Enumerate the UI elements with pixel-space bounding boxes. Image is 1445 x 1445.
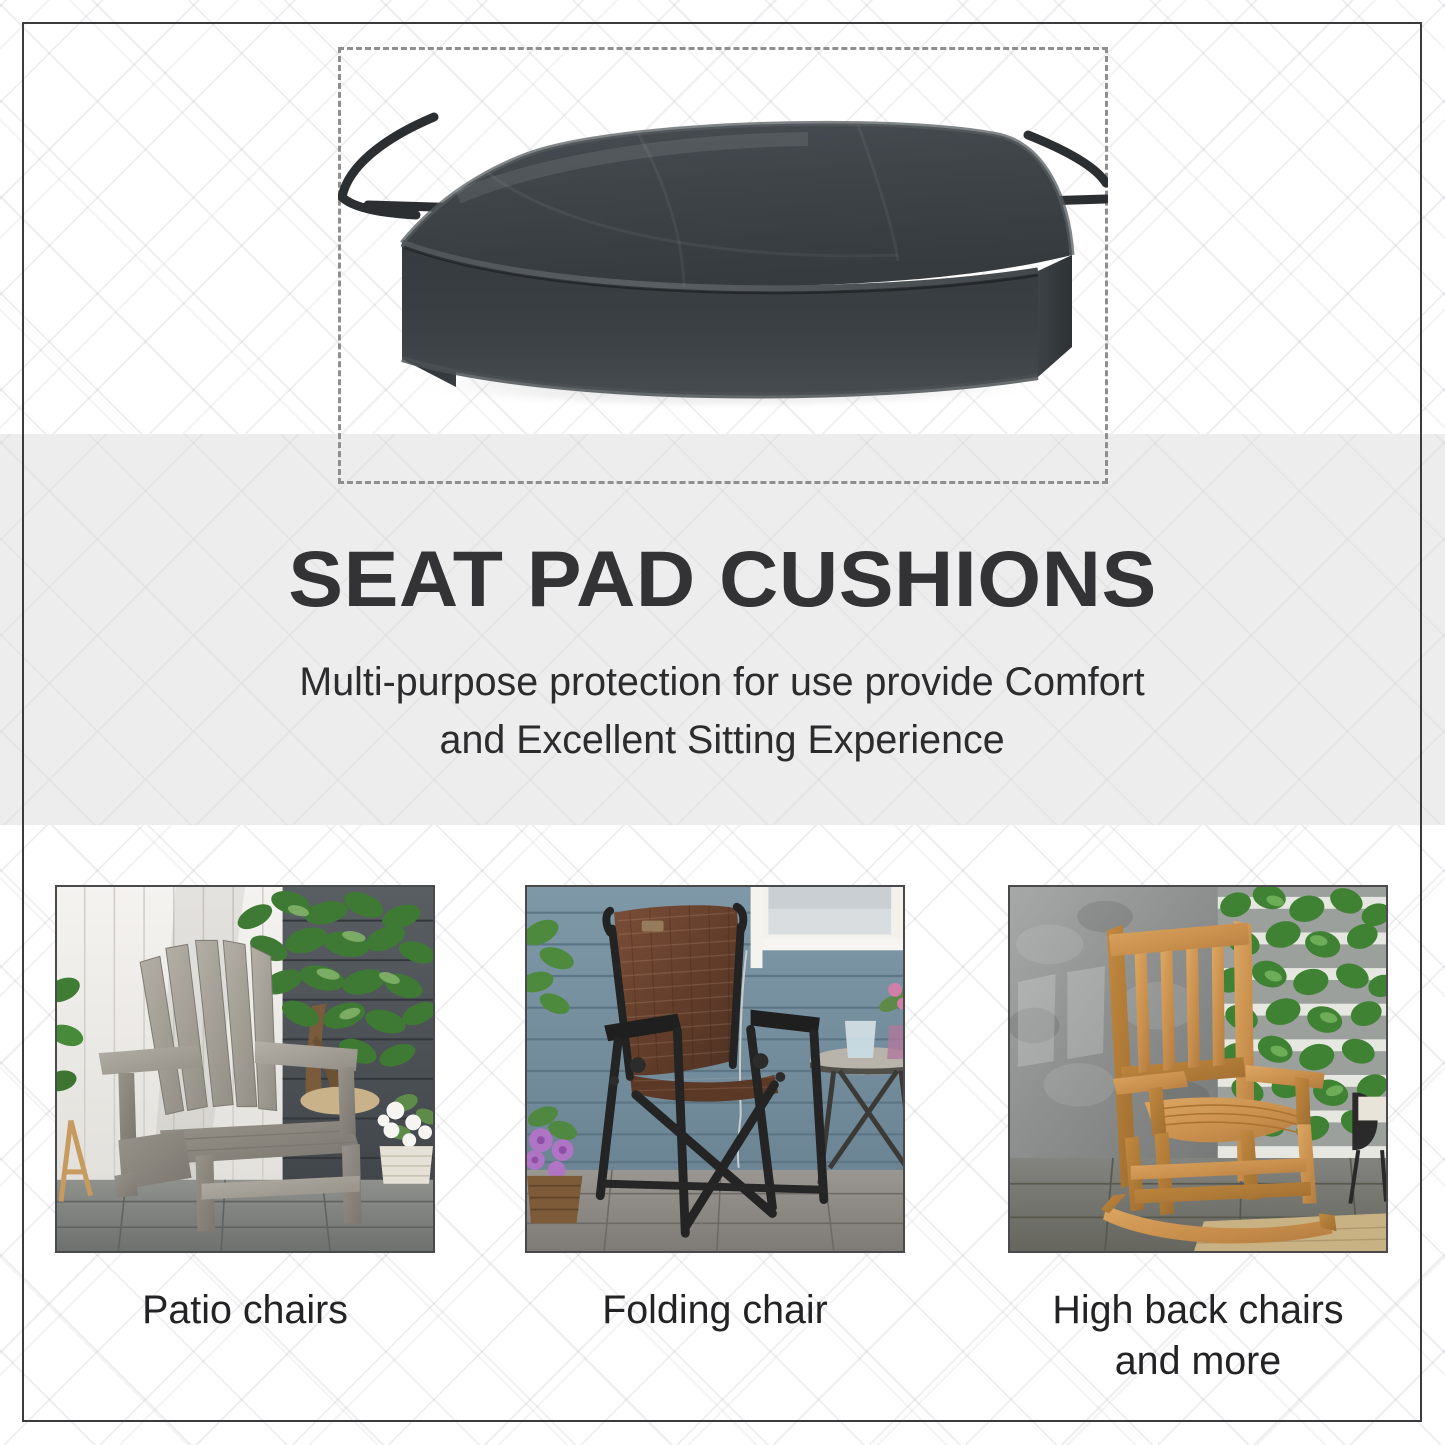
caption-line-1: High back chairs (1052, 1288, 1343, 1332)
cushion-illustration (338, 47, 1108, 484)
use-case-caption: High back chairs and more (1011, 1285, 1385, 1387)
headline-section: SEAT PAD CUSHIONS Multi-purpose protecti… (0, 434, 1445, 825)
use-case-caption: Folding chair (528, 1285, 902, 1336)
use-case-item: Folding chair (525, 885, 905, 1336)
subtitle-line-2: and Excellent Sitting Experience (300, 711, 1145, 769)
seat-pad-cushion (338, 47, 1108, 484)
folding-chair-scene (527, 887, 903, 1251)
use-case-item: Patio chairs (55, 885, 435, 1336)
subtitle-line-1: Multi-purpose protection for use provide… (300, 660, 1145, 704)
infographic-page: SEAT PAD CUSHIONS Multi-purpose protecti… (0, 0, 1445, 1445)
rattan-folding-chair-photo (525, 885, 905, 1253)
caption-line-2: and more (1011, 1336, 1385, 1387)
caption-line-1: Folding chair (602, 1288, 828, 1332)
cushion-right-face (1038, 255, 1072, 377)
page-title: SEAT PAD CUSHIONS (288, 539, 1157, 618)
patio-chair-scene (57, 887, 433, 1251)
patio-adirondack-chair-photo (55, 885, 435, 1253)
use-case-item: High back chairs and more (1008, 885, 1388, 1387)
use-case-caption: Patio chairs (58, 1285, 432, 1336)
rocking-chair-scene (1010, 887, 1386, 1251)
caption-line-1: Patio chairs (142, 1288, 348, 1332)
wooden-high-back-rocking-chair-photo (1008, 885, 1388, 1253)
use-case-gallery: Patio chairs (0, 885, 1445, 1445)
page-subtitle: Multi-purpose protection for use provide… (300, 653, 1145, 769)
